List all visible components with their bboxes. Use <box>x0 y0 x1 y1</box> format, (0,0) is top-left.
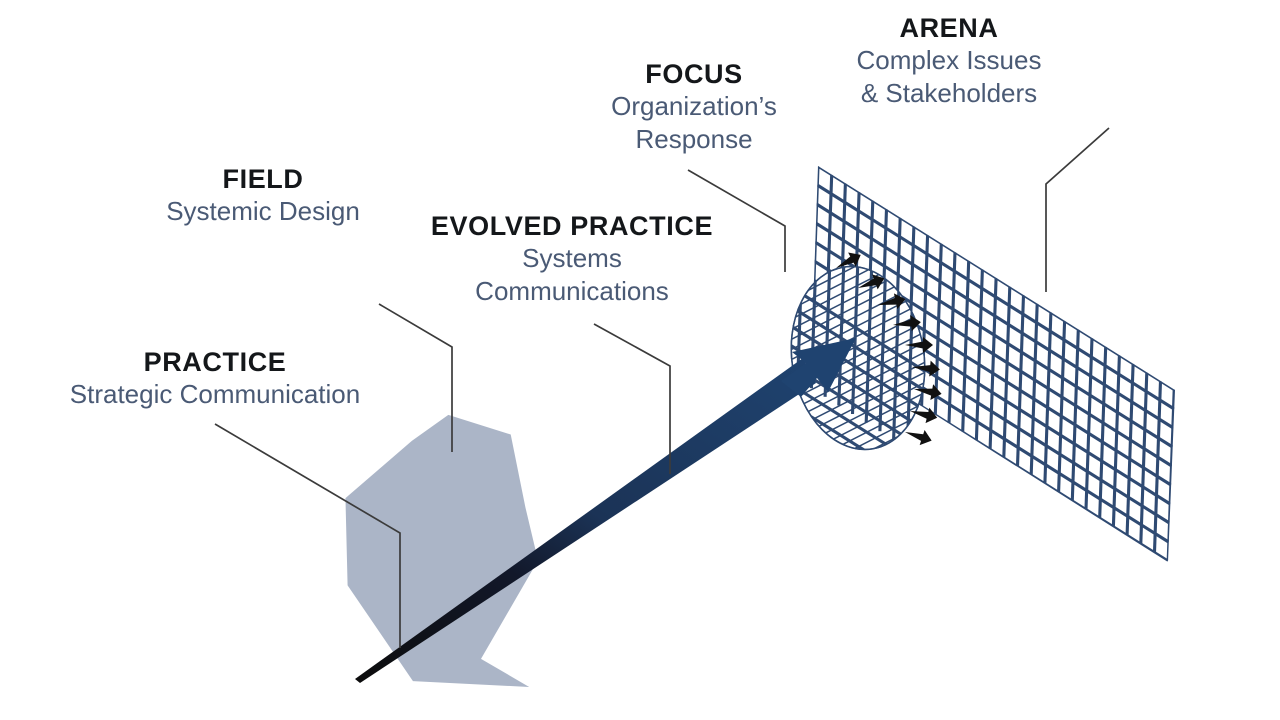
callout-focus-detail-line-1: Organization’s <box>594 91 794 122</box>
callout-evolved-practice-kicker: EVOLVED PRACTICE <box>427 212 717 241</box>
diagram-canvas: ARENA Complex Issues & Stakeholders FOCU… <box>0 0 1280 720</box>
leader-line-arena <box>1046 128 1109 292</box>
callout-practice: PRACTICE Strategic Communication <box>48 348 382 410</box>
callout-field-kicker: FIELD <box>150 165 376 194</box>
callout-arena-detail-line-1: Complex Issues <box>834 45 1064 76</box>
callout-arena-kicker: ARENA <box>834 14 1064 43</box>
callout-evolved-practice-detail-line-1: Systems <box>427 243 717 274</box>
callout-evolved-practice-detail-line-2: Communications <box>427 276 717 307</box>
callout-arena: ARENA Complex Issues & Stakeholders <box>834 14 1064 109</box>
callout-field: FIELD Systemic Design <box>150 165 376 227</box>
leader-line-evolved <box>594 324 670 474</box>
callout-focus-kicker: FOCUS <box>594 60 794 89</box>
callout-practice-detail: Strategic Communication <box>48 379 382 410</box>
callout-field-detail: Systemic Design <box>150 196 376 227</box>
callout-practice-kicker: PRACTICE <box>48 348 382 377</box>
systemic-design-field-polygon <box>331 407 551 705</box>
callout-focus-detail-line-2: Response <box>594 124 794 155</box>
callout-evolved-practice: EVOLVED PRACTICE Systems Communications <box>427 212 717 307</box>
callout-focus: FOCUS Organization’s Response <box>594 60 794 155</box>
callout-arena-detail-line-2: & Stakeholders <box>834 78 1064 109</box>
